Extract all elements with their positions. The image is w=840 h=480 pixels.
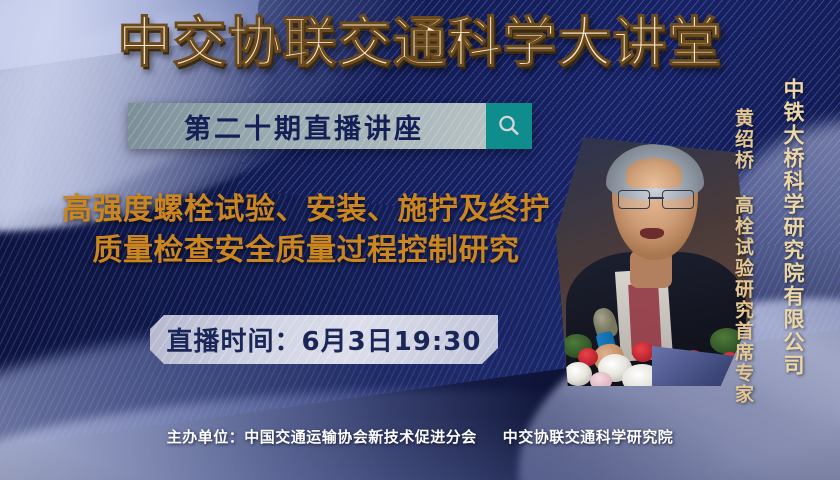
headline-line-1: 高强度螺栓试验、安装、施拧及终拧	[62, 192, 550, 227]
broadcast-time-badge: 直播时间：6月3日19:30	[150, 315, 498, 364]
speaker-forehead	[626, 158, 682, 188]
search-icon	[496, 113, 522, 139]
background-bottom-glow	[0, 370, 840, 480]
glasses-lens-right	[662, 190, 694, 209]
headline-line-2: 质量检查安全质量过程控制研究	[8, 231, 604, 272]
livestream-promo-poster: 中交协联交通科学大讲堂 第二十期直播讲座 高强度螺栓试验、安装、施拧及终拧 质量…	[0, 0, 840, 480]
bouquet-red-flower	[632, 342, 654, 362]
broadcast-time-text: 直播时间：6月3日19:30	[167, 321, 482, 358]
footer-host-2: 中交协联交通科学研究院	[503, 428, 674, 446]
bouquet-white-flower	[564, 362, 592, 386]
speaker-organization: 中铁大桥科学研究院有限公司	[778, 78, 808, 377]
lecture-headline: 高强度螺栓试验、安装、施拧及终拧 质量检查安全质量过程控制研究	[8, 190, 604, 272]
organizer-footer: 主办单位：中国交通运输协会新技术促进分会中交协联交通科学研究院	[0, 426, 840, 447]
footer-prefix: 主办单位：	[167, 428, 245, 446]
speaker-glasses-icon	[618, 190, 694, 208]
episode-banner: 第二十期直播讲座	[128, 103, 532, 149]
speaker-mouth	[640, 228, 664, 239]
episode-label: 第二十期直播讲座	[128, 103, 486, 149]
speaker-name-and-title: 黄绍桥 高栓试验研究首席专家	[730, 108, 757, 405]
page-title: 中交协联交通科学大讲堂	[0, 16, 840, 70]
footer-host-1: 中国交通运输协会新技术促进分会	[244, 428, 477, 446]
search-button[interactable]	[486, 103, 532, 149]
glasses-lens-left	[618, 190, 650, 209]
bouquet-pink-flower	[590, 372, 612, 386]
